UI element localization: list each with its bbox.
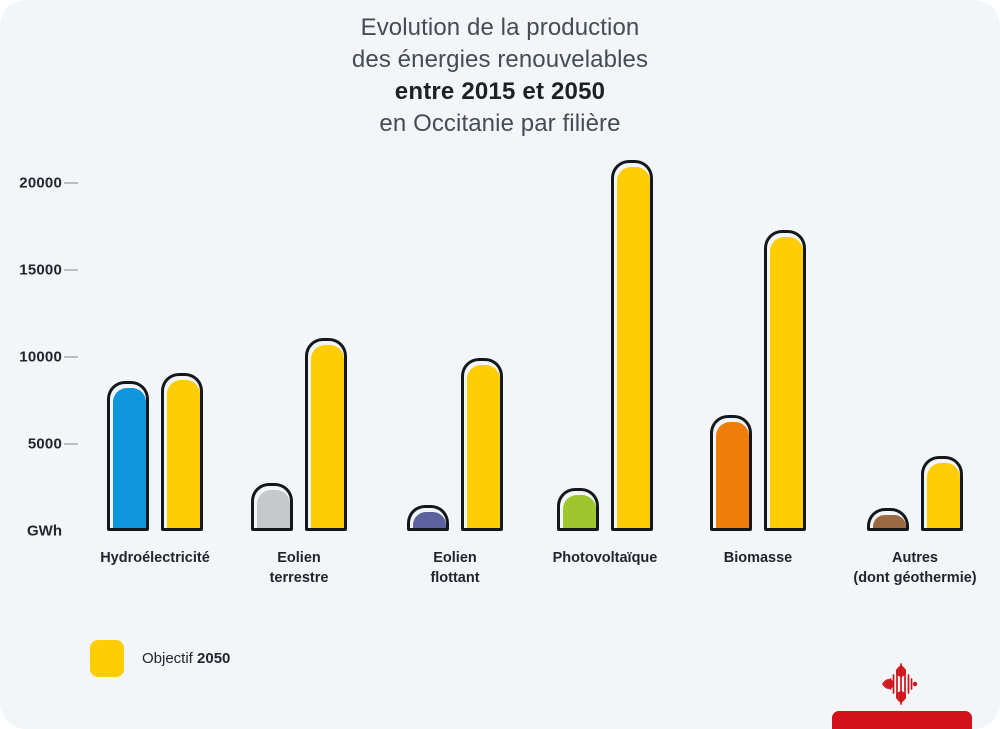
chart-legend: Objectif 2050 — [90, 640, 230, 677]
category-label-line: (dont géothermie) — [853, 569, 976, 589]
category-label-line: Biomasse — [724, 549, 793, 569]
bar-fill — [617, 167, 650, 528]
y-axis-label-15000: 15000 — [0, 262, 62, 279]
category-label-1: Eolienterrestre — [270, 549, 329, 588]
category-label-line: Hydroélectricité — [100, 549, 210, 569]
legend-label-prefix: Objectif — [142, 650, 197, 667]
bar-fill — [716, 422, 749, 528]
category-label-4: Biomasse — [724, 549, 793, 569]
bar-fill — [113, 388, 146, 528]
bar-objectif-2050-3[interactable] — [611, 160, 653, 531]
bar-2015-2[interactable] — [407, 505, 449, 531]
bar-fill — [467, 365, 500, 528]
category-label-line: Photovoltaïque — [553, 549, 658, 569]
category-label-2: Eolienflottant — [430, 549, 479, 588]
bar-fill — [927, 463, 960, 528]
bar-fill — [873, 515, 906, 528]
plot-area: 5000100001500020000GWh HydroélectricitéE… — [0, 0, 1000, 729]
legend-label-objectif-2050: Objectif 2050 — [142, 650, 230, 667]
y-axis-tick-15000 — [64, 269, 78, 271]
bar-fill — [167, 380, 200, 528]
category-label-line: Eolien — [430, 549, 479, 569]
bar-fill — [311, 345, 344, 528]
category-label-5: Autres(dont géothermie) — [853, 549, 976, 588]
bar-2015-1[interactable] — [251, 483, 293, 531]
y-axis-label-5000: 5000 — [0, 436, 62, 453]
chart-page: Evolution de la production des énergies … — [0, 0, 1000, 729]
bar-objectif-2050-5[interactable] — [921, 456, 963, 531]
bar-objectif-2050-0[interactable] — [161, 373, 203, 531]
category-label-0: Hydroélectricité — [100, 549, 210, 569]
category-label-line: flottant — [430, 569, 479, 589]
category-label-line: Eolien — [270, 549, 329, 569]
bar-objectif-2050-1[interactable] — [305, 338, 347, 531]
bar-fill — [257, 490, 290, 528]
y-axis-label-20000: 20000 — [0, 175, 62, 192]
bar-fill — [770, 237, 803, 528]
y-axis-unit-label: GWh — [0, 523, 62, 540]
category-label-line: terrestre — [270, 569, 329, 589]
y-axis-tick-5000 — [64, 443, 78, 445]
bar-2015-3[interactable] — [557, 488, 599, 532]
category-label-line: Autres — [853, 549, 976, 569]
bar-2015-4[interactable] — [710, 415, 752, 531]
y-axis-tick-10000 — [64, 356, 78, 358]
bar-2015-0[interactable] — [107, 381, 149, 531]
y-axis-tick-20000 — [64, 182, 78, 184]
bar-objectif-2050-2[interactable] — [461, 358, 503, 531]
y-axis-label-10000: 10000 — [0, 349, 62, 366]
bar-fill — [413, 512, 446, 528]
logo-bottom-bar — [832, 711, 972, 729]
bar-2015-5[interactable] — [867, 508, 909, 531]
bar-fill — [563, 495, 596, 529]
legend-label-year: 2050 — [197, 650, 230, 667]
occitanie-cross-logo-icon — [877, 660, 925, 708]
bar-objectif-2050-4[interactable] — [764, 230, 806, 531]
category-label-3: Photovoltaïque — [553, 549, 658, 569]
legend-swatch-objectif-2050 — [90, 640, 124, 677]
